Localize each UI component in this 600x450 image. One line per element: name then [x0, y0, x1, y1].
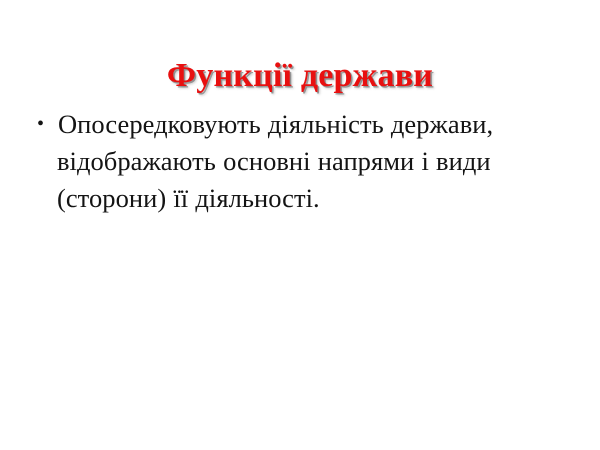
presentation-slide: Функції держави • Опосередковують діяльн… — [0, 0, 600, 450]
list-item-line: Опосередковують діяльність держави, — [58, 106, 572, 143]
bullet-icon: • — [37, 106, 55, 143]
list-item: • Опосередковують діяльність держави, ві… — [32, 106, 572, 217]
slide-body: • Опосередковують діяльність держави, ві… — [32, 106, 572, 217]
slide-title: Функції держави — [0, 56, 600, 96]
list-item-text: Опосередковують діяльність держави, відо… — [58, 106, 572, 217]
list-item-line: відображають основні напрями і види — [57, 143, 572, 180]
list-item-line: (сторони) її діяльності. — [57, 180, 572, 217]
slide-empty-area — [0, 235, 600, 450]
